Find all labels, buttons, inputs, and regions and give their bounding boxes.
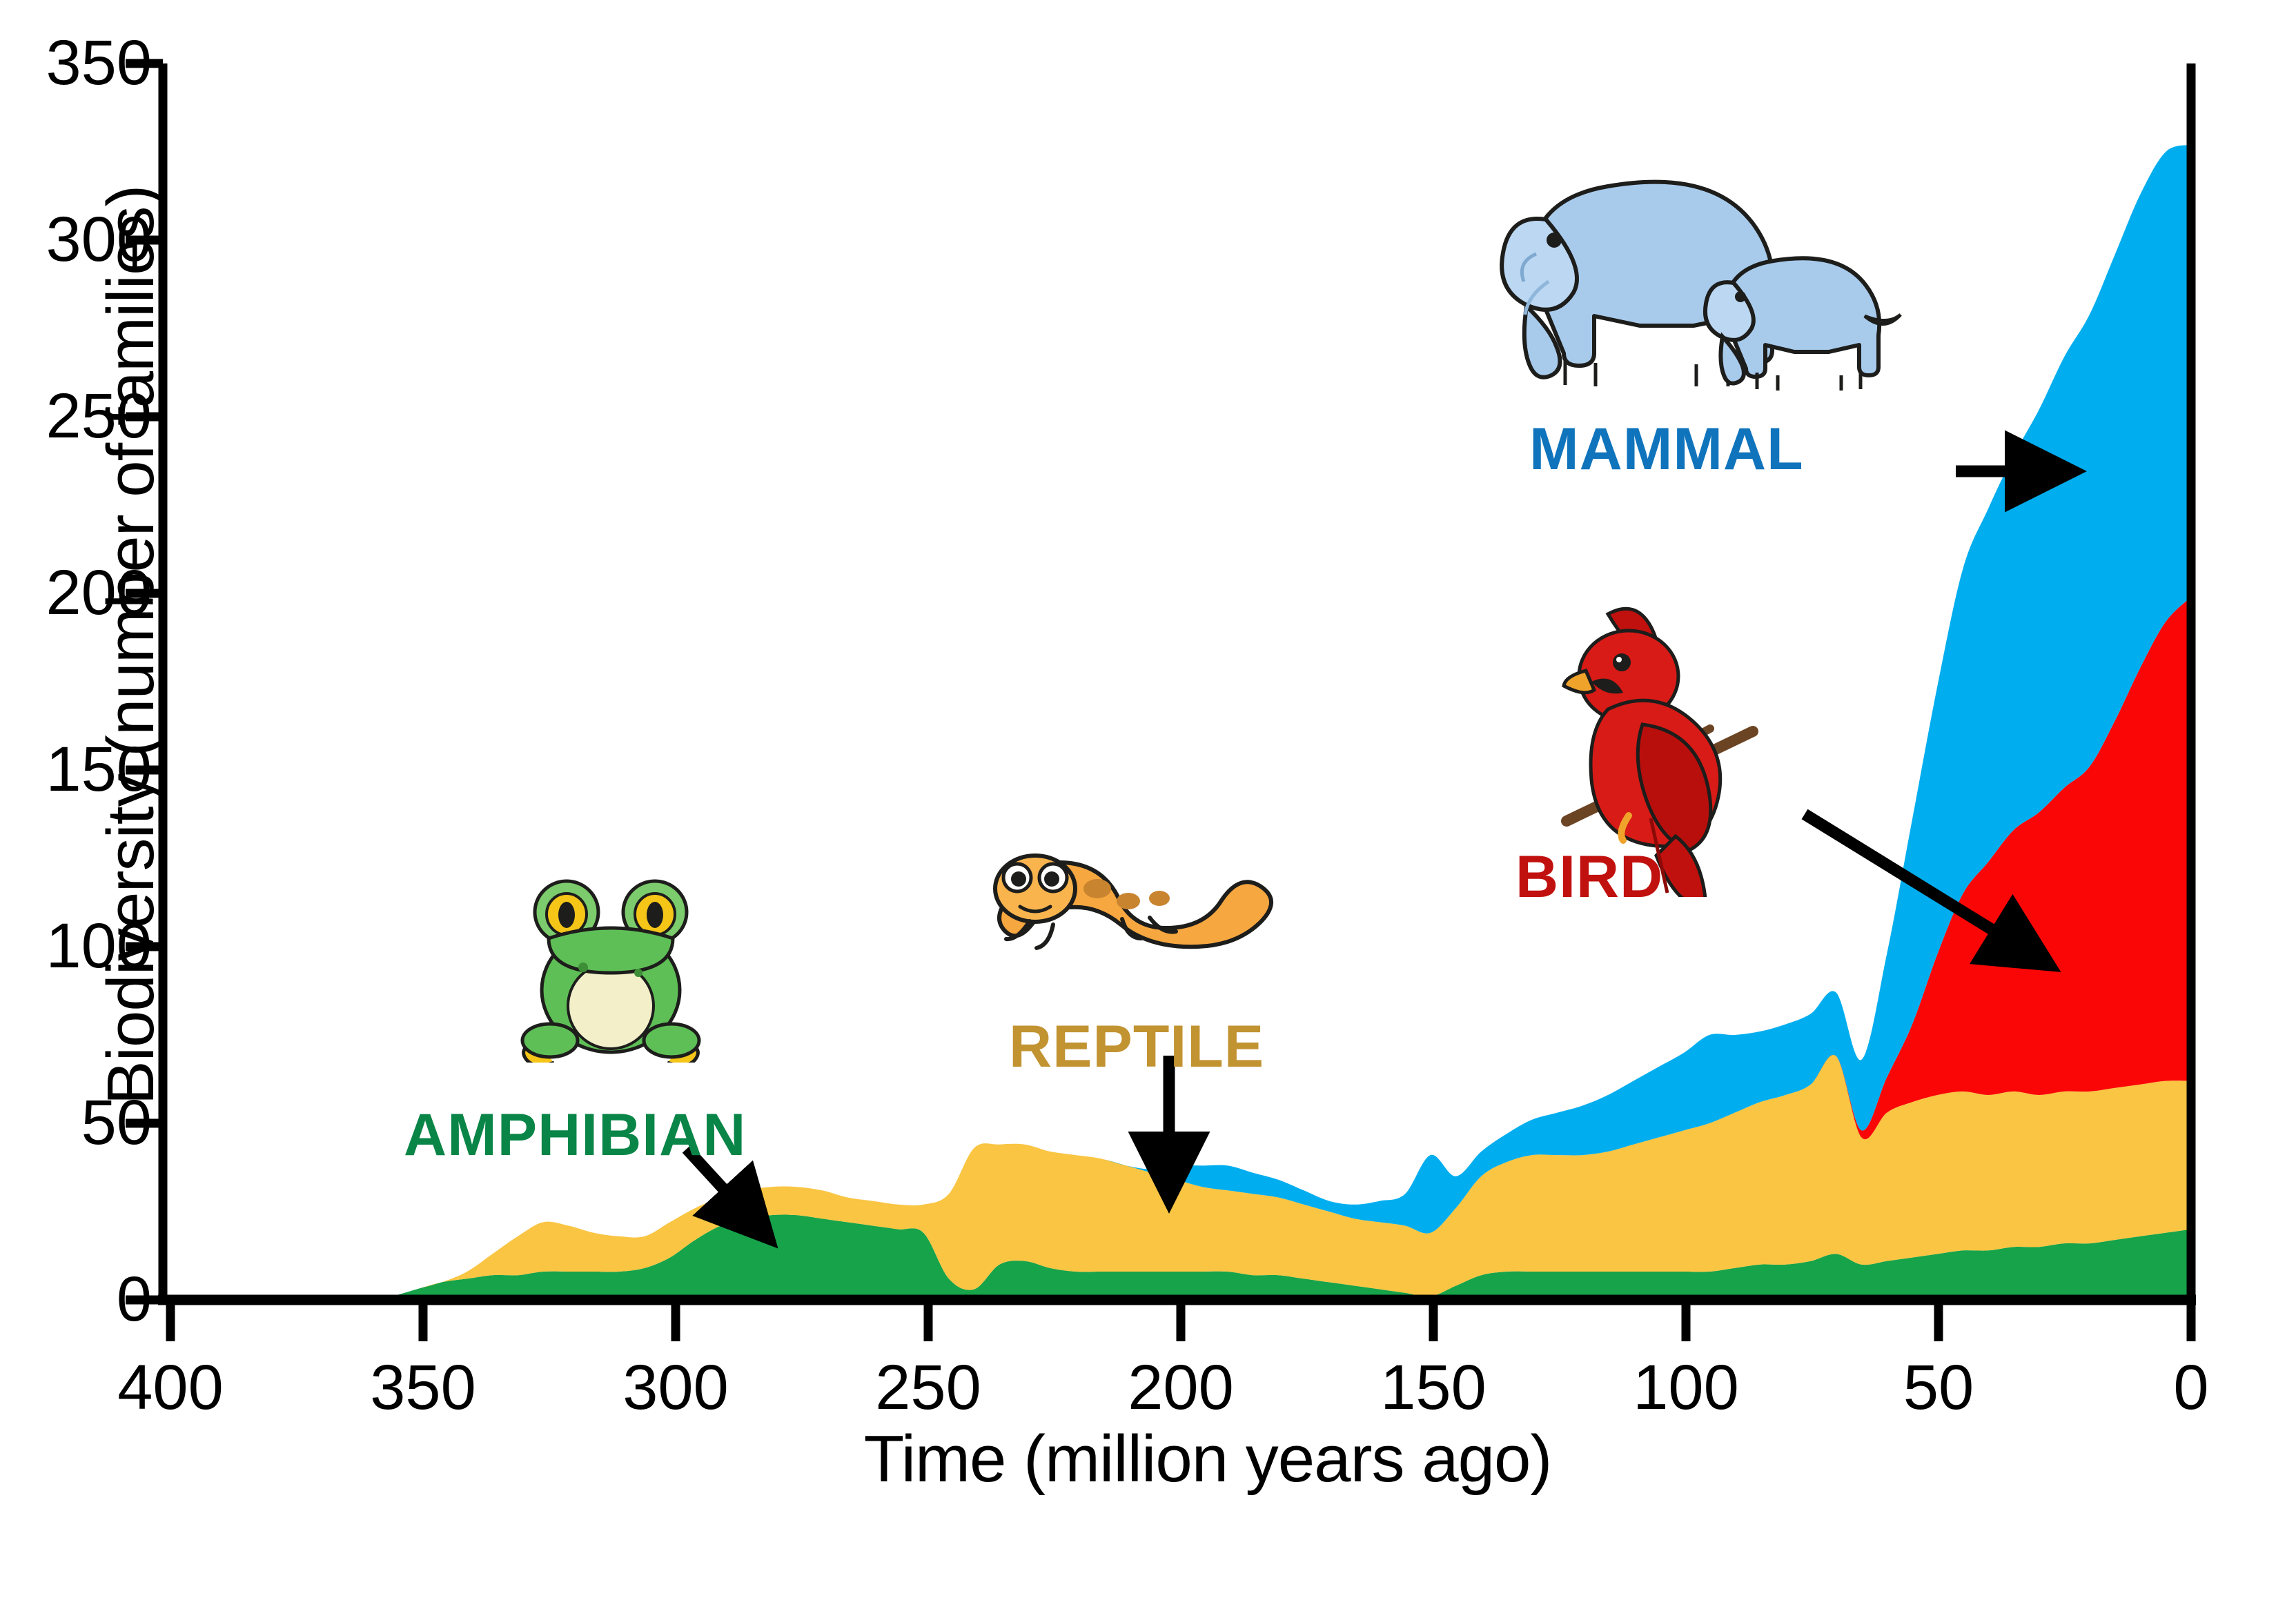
y-axis-ticks (126, 63, 163, 1300)
mammal-label: MAMMAL (1529, 415, 1804, 484)
lizard-icon (987, 814, 1284, 1000)
plot-area (0, 0, 2296, 1609)
cardinal-bird-icon (1525, 593, 1815, 897)
reptile-label: REPTILE (1009, 1013, 1264, 1081)
elephant-icon (1477, 138, 1905, 414)
chart-figure: 0 50 100 150 200 250 300 350 400 350 300… (0, 0, 2296, 1609)
amphibian-label: AMPHIBIAN (404, 1101, 746, 1169)
x-axis-ticks (170, 1300, 2191, 1341)
frog-icon (507, 835, 714, 1063)
